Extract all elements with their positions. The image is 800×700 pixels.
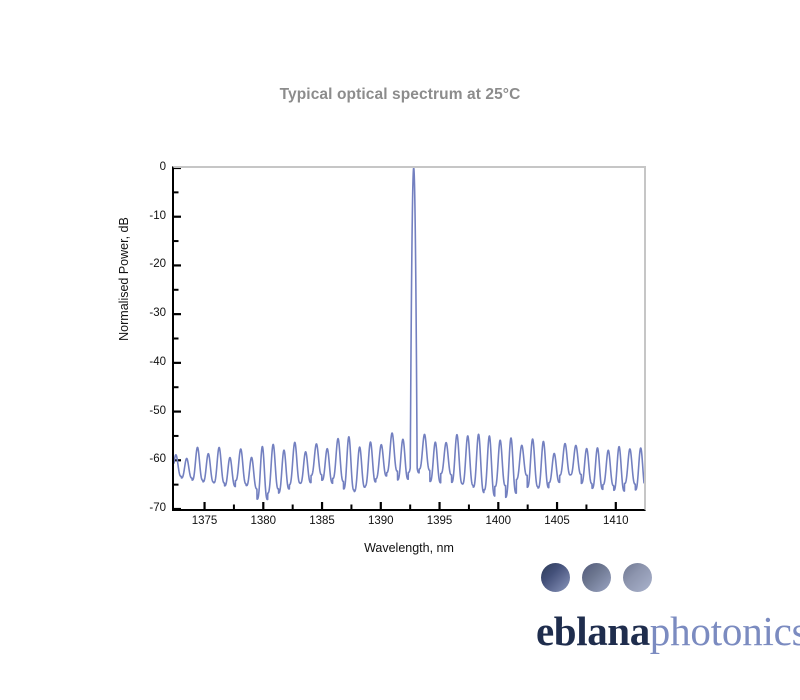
figure-root: Typical optical spectrum at 25°C Normali… bbox=[0, 0, 800, 700]
x-tick-label: 1395 bbox=[427, 515, 453, 527]
y-tick-label: -10 bbox=[149, 210, 166, 222]
brand-logo: eblanaphotonics bbox=[536, 560, 786, 660]
x-tick-label-group: 13751380138513901395140014051410 bbox=[172, 515, 650, 535]
logo-dot-icon bbox=[541, 563, 570, 592]
x-tick-label: 1375 bbox=[192, 515, 218, 527]
y-tick-label: -20 bbox=[149, 258, 166, 270]
x-tick-label: 1385 bbox=[309, 515, 335, 527]
y-axis-label: Normalised Power, dB bbox=[117, 199, 131, 359]
x-tick-label: 1400 bbox=[486, 515, 512, 527]
logo-dot-icon bbox=[582, 563, 611, 592]
x-tick-label: 1380 bbox=[251, 515, 277, 527]
y-tick-label: -50 bbox=[149, 405, 166, 417]
logo-brand-secondary: photonics bbox=[650, 608, 800, 654]
plot-area bbox=[172, 166, 646, 511]
x-tick-label: 1410 bbox=[603, 515, 629, 527]
y-tick-label: -40 bbox=[149, 356, 166, 368]
y-tick-label: -70 bbox=[149, 502, 166, 514]
spectrum-trace bbox=[174, 168, 644, 500]
page-title: Typical optical spectrum at 25°C bbox=[0, 86, 800, 104]
y-tick-label: 0 bbox=[160, 161, 166, 173]
logo-dot-icon bbox=[623, 563, 652, 592]
y-tick-label-group: 0-10-20-30-40-50-60-70 bbox=[133, 166, 166, 511]
y-tick-label: -30 bbox=[149, 307, 166, 319]
x-axis-label: Wavelength, nm bbox=[172, 541, 646, 555]
y-tick-label: -60 bbox=[149, 453, 166, 465]
logo-brand-primary: eblana bbox=[536, 608, 650, 654]
logo-wordmark: eblanaphotonics bbox=[536, 608, 800, 654]
logo-dot-group bbox=[541, 563, 652, 592]
x-tick-label: 1390 bbox=[368, 515, 394, 527]
spectrum-plot-svg bbox=[174, 168, 644, 509]
x-tick-label: 1405 bbox=[544, 515, 570, 527]
